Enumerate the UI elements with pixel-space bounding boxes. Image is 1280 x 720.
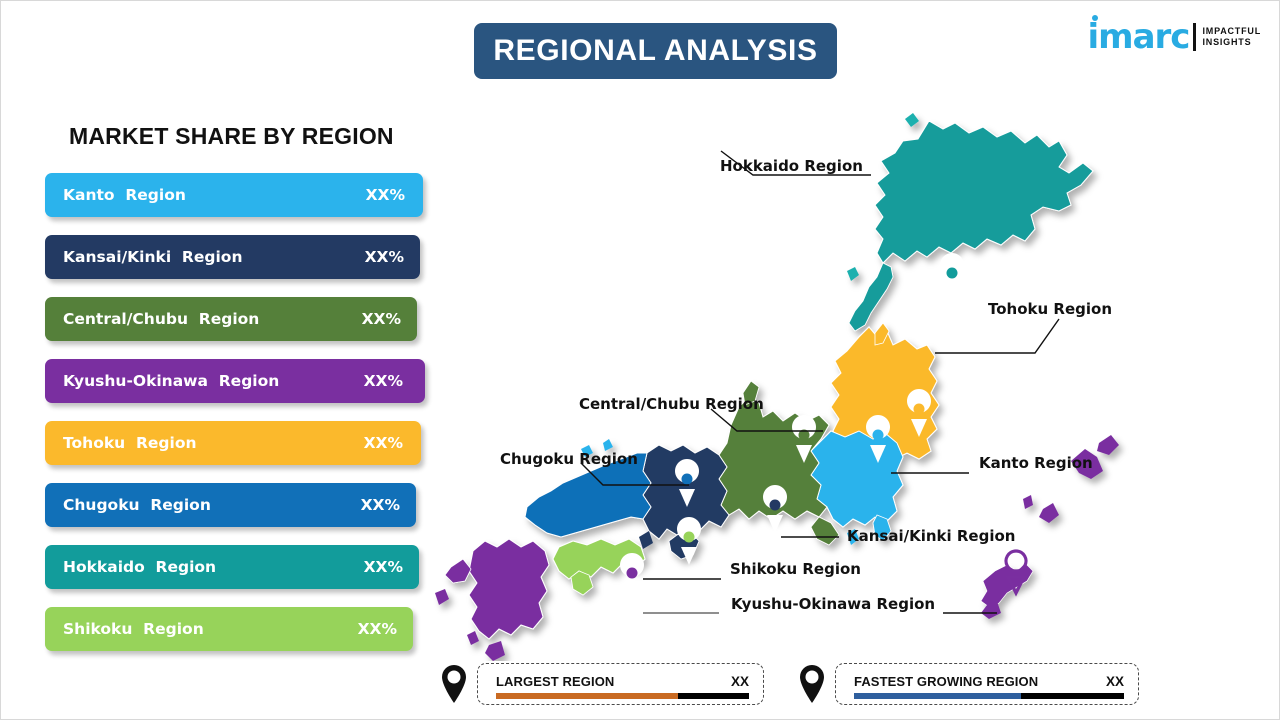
indicator-row: LARGEST REGION XX [496, 674, 749, 689]
map-region-okinawa-islet3 [1023, 495, 1033, 509]
legend-value: XX% [358, 620, 397, 638]
logo-tagline-line2: INSIGHTS [1202, 37, 1261, 48]
indicator-value: XX [731, 674, 749, 689]
map-label-kansai-kinki: Kansai/Kinki Region [847, 527, 1015, 545]
legend-item-kyushu-okinawa[interactable]: Kyushu-Okinawa Region XX% [45, 359, 425, 403]
map-label-tohoku: Tohoku Region [988, 300, 1112, 318]
legend-label: Kansai/Kinki Region [63, 248, 242, 266]
map-region-kanto[interactable] [811, 431, 903, 527]
map-label-shikoku: Shikoku Region [730, 560, 861, 578]
legend-value: XX% [366, 186, 405, 204]
map-region-kyushu-islet2 [467, 631, 479, 645]
legend-item-kansai-kinki[interactable]: Kansai/Kinki Region XX% [45, 235, 420, 279]
indicator-row: FASTEST GROWING REGION XX [854, 674, 1124, 689]
logo-wordmark-text: imarc [1088, 17, 1190, 57]
map-pin-icon [795, 662, 829, 706]
legend-label: Central/Chubu Region [63, 310, 259, 328]
map-pin-icon [437, 662, 471, 706]
map-region-kyushu-islet [435, 589, 449, 605]
legend-label: Hokkaido Region [63, 558, 216, 576]
indicator-title: LARGEST REGION [496, 674, 614, 689]
slide-root: REGIONAL ANALYSIS imarc IMPACTFUL INSIGH… [0, 0, 1280, 720]
map-pin-hokkaido[interactable] [940, 253, 964, 301]
leader-tohoku [935, 319, 1059, 353]
indicator-track [854, 693, 1124, 699]
map-region-chubu-sw [811, 517, 839, 545]
logo-divider [1193, 23, 1196, 51]
legend-label: Shikoku Region [63, 620, 204, 638]
legend-label: Kyushu-Okinawa Region [63, 372, 279, 390]
legend-value: XX% [362, 310, 401, 328]
map-region-kyushu-south [485, 641, 505, 661]
market-share-legend-list: Kanto Region XX% Kansai/Kinki Region XX%… [45, 173, 435, 669]
map-region-hokkaido-islet2 [905, 113, 919, 127]
map-label-kyushu-okinawa: Kyushu-Okinawa Region [731, 595, 935, 613]
map-region-okinawa-main[interactable] [981, 563, 1033, 607]
japan-regional-map: Hokkaido Region Tohoku Region Central/Ch… [431, 101, 1271, 661]
legend-value: XX% [364, 558, 403, 576]
legend-label: Chugoku Region [63, 496, 211, 514]
indicator-title: FASTEST GROWING REGION [854, 674, 1038, 689]
legend-item-kanto[interactable]: Kanto Region XX% [45, 173, 423, 217]
indicator-fastest-growing-region: FASTEST GROWING REGION XX [795, 661, 1139, 707]
indicator-fill [854, 693, 1021, 699]
legend-label: Kanto Region [63, 186, 186, 204]
map-region-hokkaido[interactable] [875, 121, 1093, 263]
indicator-largest-region: LARGEST REGION XX [437, 661, 764, 707]
map-region-okinawa-islet5 [1097, 435, 1119, 455]
legend-item-chugoku[interactable]: Chugoku Region XX% [45, 483, 416, 527]
indicator-box: LARGEST REGION XX [477, 663, 764, 705]
logo-wordmark: imarc [1088, 20, 1190, 54]
page-title: REGIONAL ANALYSIS [493, 34, 817, 68]
map-region-okinawa-islet2 [1039, 503, 1059, 523]
map-pin-kyushu[interactable] [620, 553, 644, 601]
indicator-track [496, 693, 749, 699]
legend-value: XX% [361, 496, 400, 514]
legend-item-tohoku[interactable]: Tohoku Region XX% [45, 421, 421, 465]
legend-label: Tohoku Region [63, 434, 197, 452]
map-region-kyushu-west [445, 559, 471, 583]
map-label-hokkaido: Hokkaido Region [720, 157, 863, 175]
panel-heading: MARKET SHARE BY REGION [69, 123, 394, 150]
legend-value: XX% [364, 434, 403, 452]
indicator-value: XX [1106, 674, 1124, 689]
map-label-central-chubu: Central/Chubu Region [579, 395, 764, 413]
map-region-kyushu[interactable] [469, 539, 549, 639]
legend-value: XX% [364, 372, 403, 390]
legend-value: XX% [365, 248, 404, 266]
map-label-chugoku: Chugoku Region [500, 450, 638, 468]
indicator-fill [496, 693, 678, 699]
logo-dot-icon [1092, 15, 1098, 21]
logo-tagline-line1: IMPACTFUL [1202, 26, 1261, 37]
page-title-banner: REGIONAL ANALYSIS [474, 23, 837, 79]
indicator-box: FASTEST GROWING REGION XX [835, 663, 1139, 705]
map-label-kanto: Kanto Region [979, 454, 1093, 472]
legend-item-shikoku[interactable]: Shikoku Region XX% [45, 607, 413, 651]
legend-item-central-chubu[interactable]: Central/Chubu Region XX% [45, 297, 417, 341]
map-region-hokkaido-islet [847, 267, 859, 281]
logo-tagline: IMPACTFUL INSIGHTS [1202, 26, 1261, 48]
legend-item-hokkaido[interactable]: Hokkaido Region XX% [45, 545, 419, 589]
imarc-logo: imarc IMPACTFUL INSIGHTS [1088, 19, 1261, 55]
map-region-kansai-awaji [639, 531, 653, 549]
